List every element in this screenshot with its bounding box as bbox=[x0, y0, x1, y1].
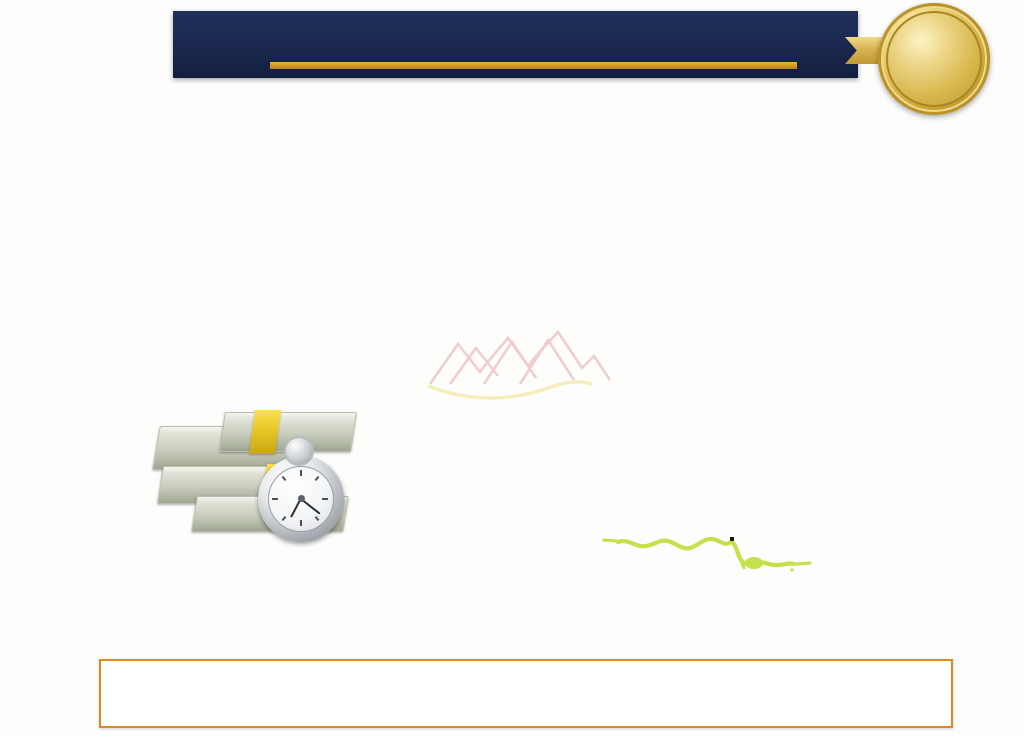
cyprus-border-line bbox=[596, 498, 828, 594]
cyprus-map bbox=[596, 498, 828, 594]
title-banner bbox=[173, 11, 858, 78]
palm-frond-decoration-top bbox=[0, 0, 430, 736]
overeny-clen-seal bbox=[878, 3, 990, 115]
seal-arc-text bbox=[878, 3, 990, 115]
stopwatch-face bbox=[268, 466, 334, 532]
banner-gold-rule bbox=[270, 62, 797, 69]
slide-canvas bbox=[0, 0, 1024, 736]
stopwatch-crown bbox=[284, 436, 314, 466]
footer-note-box bbox=[99, 659, 953, 728]
money-stopwatch-photo bbox=[148, 398, 378, 568]
palm-frond-decoration-bottom bbox=[0, 0, 430, 736]
interest-block bbox=[455, 346, 995, 372]
map-capital-dot bbox=[730, 537, 734, 541]
stopwatch-body bbox=[258, 456, 344, 542]
footer-note-text bbox=[115, 670, 937, 693]
